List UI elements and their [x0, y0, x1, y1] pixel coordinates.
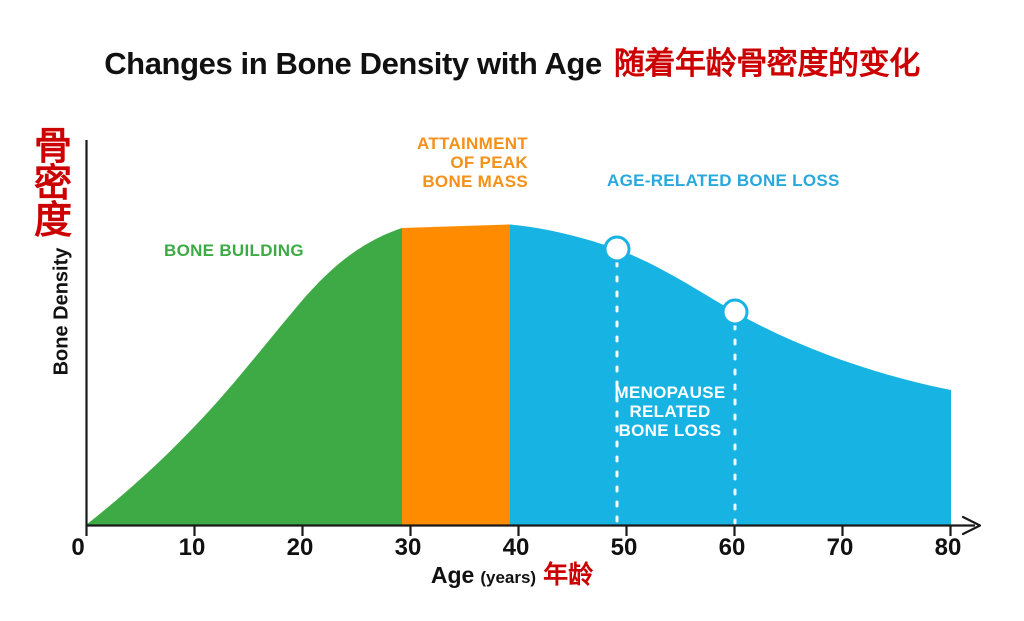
plot-area: [0, 0, 1024, 621]
x-tick-label-80: 80: [918, 534, 978, 562]
x-tick-label-50: 50: [594, 534, 654, 562]
region-label-peak-bone-mass: ATTAINMENT OF PEAK BONE MASS: [358, 134, 528, 191]
annotation-menopause-related-bone-loss: MENOPAUSE RELATED BONE LOSS: [600, 383, 740, 440]
x-axis-label-chinese: 年龄: [543, 560, 593, 589]
x-axis-label: Age(years)年龄: [0, 562, 1024, 587]
marker-post-menopause: [723, 300, 747, 324]
region-label-age-related-bone-loss: AGE-RELATED BONE LOSS: [607, 171, 840, 190]
x-tick-label-70: 70: [810, 534, 870, 562]
x-axis-label-unit: (years): [480, 568, 536, 587]
x-axis-label-english: Age: [431, 562, 474, 588]
bone-density-chart-figure: Changes in Bone Density with Age随着年龄骨密度的…: [0, 0, 1024, 621]
marker-menopause-onset: [605, 237, 629, 261]
x-tick-label-30: 30: [378, 534, 438, 562]
region-label-bone-building: BONE BUILDING: [164, 241, 304, 260]
area-fill-group: [86, 223, 951, 525]
x-tick-label-60: 60: [702, 534, 762, 562]
x-tick-label-0: 0: [48, 534, 108, 562]
x-tick-label-10: 10: [162, 534, 222, 562]
x-tick-label-20: 20: [270, 534, 330, 562]
x-tick-label-40: 40: [486, 534, 546, 562]
